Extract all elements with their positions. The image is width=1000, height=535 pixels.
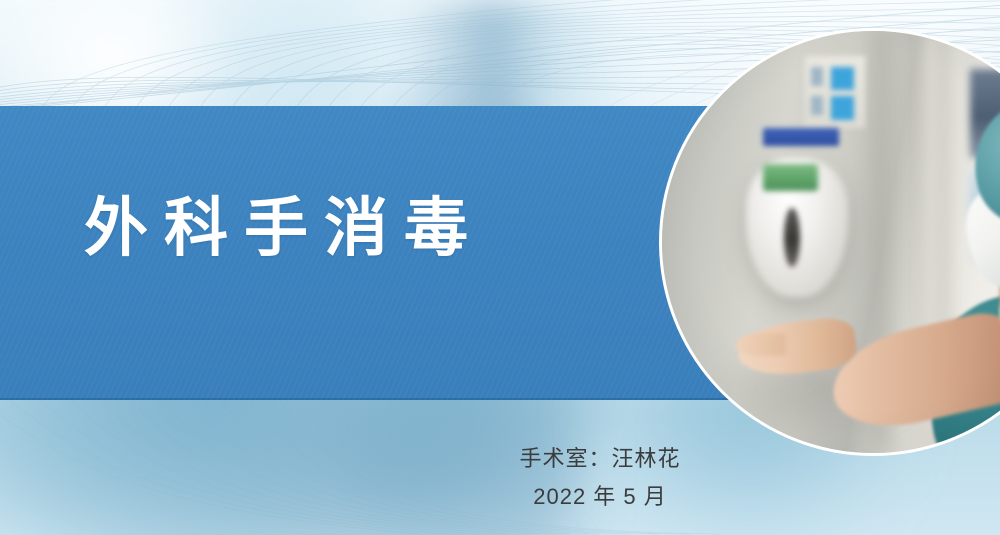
title-slide: 外科手消毒 [0, 0, 1000, 535]
hero-photo-image [662, 31, 1000, 453]
date-line: 2022 年 5 月 [420, 478, 780, 516]
photo-vignette [662, 31, 1000, 453]
subtitle-block: 手术室：汪林花 2022 年 5 月 [420, 440, 780, 516]
presenter-line: 手术室：汪林花 [420, 440, 780, 478]
page-title: 外科手消毒 [84, 196, 484, 260]
hero-photo-circle [659, 28, 1000, 456]
